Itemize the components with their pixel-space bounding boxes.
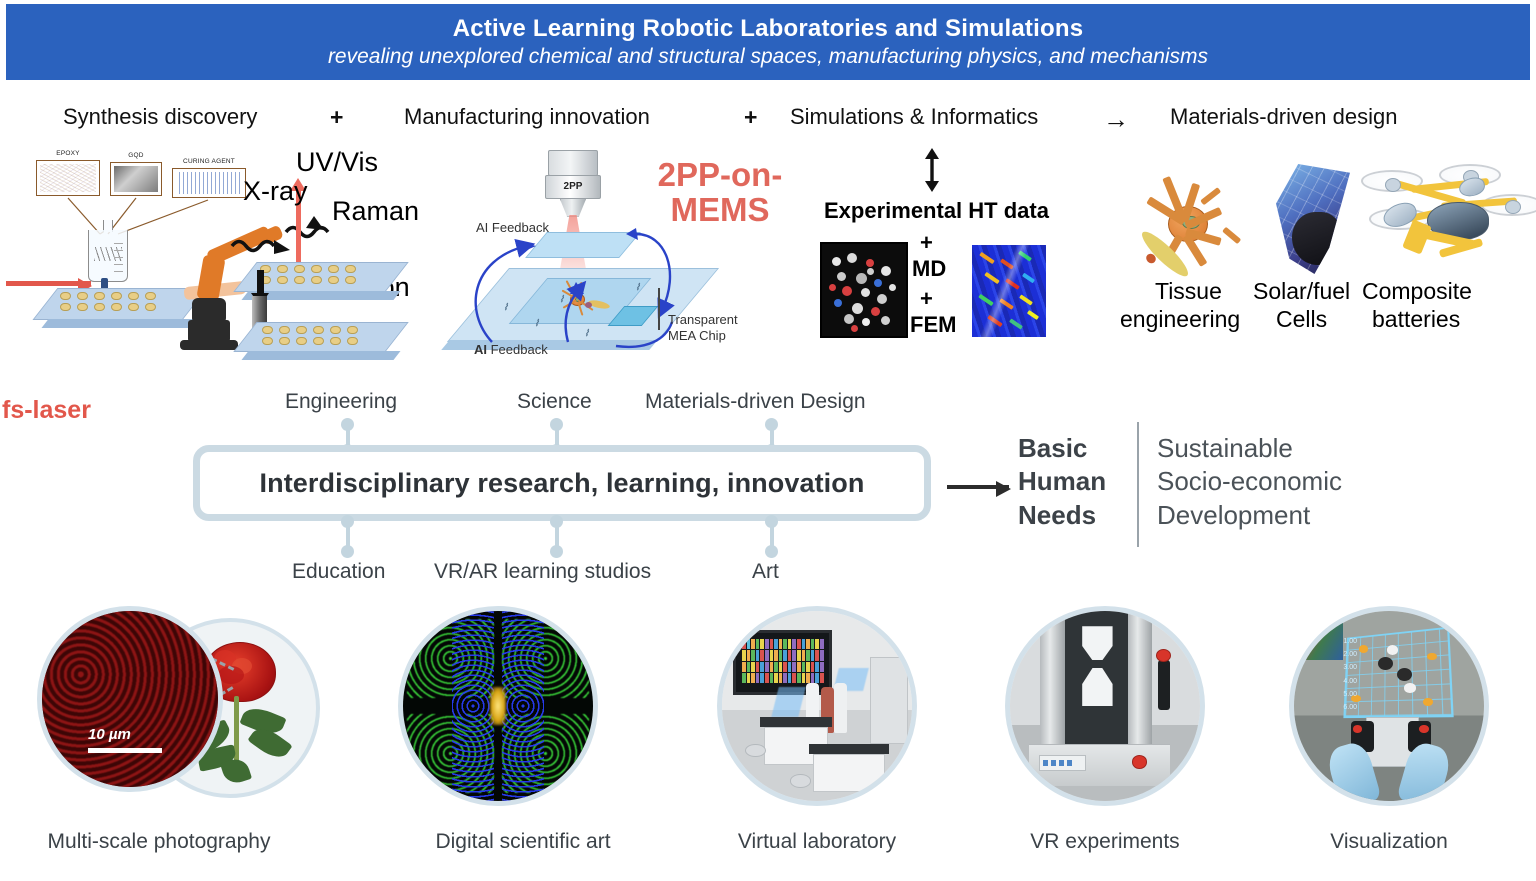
md-simulation-cube <box>820 242 908 338</box>
molecule-atom-light-2 <box>1404 683 1415 693</box>
axis-tick-2: 2.00 <box>1343 651 1357 658</box>
axis-tick-4: 4.00 <box>1343 678 1357 685</box>
molecule-box-gqd-label: GQD <box>111 152 161 159</box>
lab-cabinet <box>870 657 908 744</box>
controller-button-left <box>1353 725 1363 733</box>
gallery-caption-multiscale: Multi-scale photography <box>14 830 304 854</box>
periodic-table-grid <box>742 639 824 684</box>
pillar-label-manufacturing: Manufacturing innovation <box>404 104 650 130</box>
outcome-block: Sustainable Socio-economic Development <box>1157 432 1342 532</box>
pillar-operator-arrow: → <box>1103 104 1129 135</box>
sample-array-top-right <box>260 265 356 284</box>
knob-vrar-bottom <box>550 545 563 558</box>
application-label-tissue-line2: engineering <box>1120 306 1240 333</box>
molecule-box-curing-agent: CURING AGENT <box>172 168 246 198</box>
knob-science-top <box>550 418 563 431</box>
gallery-item-digital-art: Digital scientific art <box>380 598 670 881</box>
node-label-science: Science <box>517 390 592 414</box>
outcome-line-1: Sustainable <box>1157 432 1342 465</box>
probe-label-xray: X-ray <box>243 176 308 207</box>
digital-art-circle <box>398 606 598 806</box>
virtual-lab-image <box>722 611 912 801</box>
lab-benchtop-2 <box>809 744 889 754</box>
node-label-education: Education <box>292 560 385 584</box>
knob-engineering-top <box>341 418 354 431</box>
fem-stress-field-image <box>972 245 1046 337</box>
lab-bench-2 <box>813 754 885 792</box>
application-label-composite-line1: Composite <box>1362 278 1472 305</box>
gallery-caption-visualization: Visualization <box>1244 830 1534 854</box>
vr-controller[interactable] <box>1158 660 1169 709</box>
application-label-solar-line1: Solar/fuel <box>1253 278 1350 305</box>
outcome-arrow-icon <box>947 485 1009 489</box>
ai-feedback-label-bottom: AI Feedback <box>474 342 548 357</box>
gqd-structure-icon <box>114 166 158 192</box>
gallery-item-vr-experiments: VR experiments <box>960 598 1250 881</box>
experimental-ht-data-label: Experimental HT data <box>824 198 1049 224</box>
axis-tick-1: 1.00 <box>1343 638 1357 645</box>
fem-label: FEM <box>910 312 956 338</box>
diffraction-art-image <box>403 611 593 801</box>
application-label-composite-line2: batteries <box>1372 306 1460 333</box>
bidirectional-arrow-icon <box>920 148 944 192</box>
fs-laser-arrow-icon <box>6 281 91 286</box>
chip-callout-line <box>658 288 660 330</box>
pillar-label-simulations: Simulations & Informatics <box>790 104 1038 130</box>
machine-column-right <box>1128 611 1153 748</box>
2pp-objective-icon: 2PP <box>545 150 601 216</box>
mems-top-plate <box>525 232 641 258</box>
page-subtitle: revealing unexplored chemical and struct… <box>328 45 1208 69</box>
node-label-vrar: VR/AR learning studios <box>434 560 651 584</box>
md-label: MD <box>912 256 946 282</box>
node-label-art: Art <box>752 560 779 584</box>
basic-human-needs-block: Basic Human Needs <box>1018 432 1106 532</box>
knob-art-bottom <box>765 545 778 558</box>
page-title: Active Learning Robotic Laboratories and… <box>453 15 1084 43</box>
pillar-operator-2: + <box>744 104 757 131</box>
gallery-row: 10 µm Multi-scale photography Digital sc… <box>0 598 1536 881</box>
gallery-item-visualization: 1.00 2.00 3.00 4.00 5.00 6.00 Visualizat… <box>1244 598 1534 881</box>
flask-graduations <box>114 243 123 272</box>
materials-driven-design-figure: Tissue engineering Solar/fuel Cells Comp… <box>1100 142 1536 380</box>
knob-education-bottom <box>341 545 354 558</box>
molecule-box-curing-agent-label: CURING AGENT <box>173 158 245 165</box>
molecule-box-epoxy: EPOXY <box>36 160 100 196</box>
sample-array-left <box>60 292 156 311</box>
needs-line-1: Basic <box>1018 432 1106 465</box>
printed-neuron-icon <box>548 275 614 321</box>
pillar-operator-1: + <box>330 104 343 131</box>
indentation-arrow-icon <box>257 270 264 294</box>
probe-label-raman: Raman <box>332 196 419 227</box>
slab-side-face <box>41 319 198 328</box>
knob-materials-top <box>765 418 778 431</box>
ai-feedback-label-top: AI Feedback <box>476 220 549 235</box>
visualization-circle: 1.00 2.00 3.00 4.00 5.00 6.00 <box>1289 606 1489 806</box>
axis-tick-5: 5.00 <box>1343 691 1357 698</box>
gallery-caption-virtual-lab: Virtual laboratory <box>672 830 962 854</box>
illustration-band: EPOXY GQD CURING AGENT <box>0 142 1536 380</box>
pillar-heading-row: Synthesis discovery + Manufacturing inno… <box>0 104 1536 138</box>
molecule-box-epoxy-label: EPOXY <box>37 150 99 157</box>
gallery-item-multiscale: 10 µm Multi-scale photography <box>22 598 312 881</box>
sample-array-bottom-right <box>262 326 358 345</box>
objective-label: 2PP <box>545 175 601 199</box>
interdisciplinary-label: Interdisciplinary research, learning, in… <box>260 468 865 499</box>
scale-bar <box>88 748 162 753</box>
pillar-label-materials: Materials-driven design <box>1170 104 1397 130</box>
interdisciplinary-box: Interdisciplinary research, learning, in… <box>193 445 931 521</box>
axis-tick-6: 6.00 <box>1343 704 1357 711</box>
hologram-left <box>771 687 805 717</box>
transparent-mea-chip-label-line1: Transparent <box>668 312 738 327</box>
scale-bar-label: 10 µm <box>88 726 131 743</box>
needs-line-2: Human <box>1018 465 1106 498</box>
robot-base-upper <box>188 320 230 342</box>
simulations-informatics-figure: Experimental HT data + MD + FEM <box>820 142 1100 380</box>
gallery-caption-digital-art: Digital scientific art <box>378 830 668 854</box>
micrograph-texture <box>37 606 223 792</box>
2pp-on-mems-headline: 2PP-on-MEMS <box>640 158 800 228</box>
outcome-line-3: Development <box>1157 499 1342 532</box>
application-label-tissue-line1: Tissue <box>1155 278 1222 305</box>
molecule-atom-orange-1 <box>1359 645 1369 653</box>
molecule-atom-orange-2 <box>1427 653 1437 661</box>
vr-test-machine-image <box>1010 611 1200 801</box>
header-banner: Active Learning Robotic Laboratories and… <box>6 4 1530 80</box>
knob-education-top <box>341 515 354 528</box>
machine-control-panel <box>1039 755 1087 770</box>
neuron-synapse <box>585 302 592 308</box>
machine-column-left <box>1040 611 1065 748</box>
molecule-atom-orange-4 <box>1423 698 1433 706</box>
molecule-atom-dark-1 <box>1378 657 1393 670</box>
reaction-flask-icon <box>88 220 128 282</box>
axis-tick-3: 3.00 <box>1343 664 1357 671</box>
application-label-solar-line2: Cells <box>1276 306 1327 333</box>
plus-sign-2: + <box>920 286 933 312</box>
solar-fuel-cell-icon <box>1276 164 1350 274</box>
tissue-engineering-neuron-icon <box>1128 162 1258 292</box>
virtual-lab-circle <box>717 606 917 806</box>
lab-stool-2 <box>790 774 811 787</box>
plus-sign-1: + <box>920 230 933 256</box>
transparent-mea-chip-label-line2: MEA Chip <box>668 328 726 343</box>
wall-poster <box>1302 622 1344 660</box>
gallery-caption-vr-experiments: VR experiments <box>960 830 1250 854</box>
robot-base-lower <box>180 340 238 350</box>
composite-batteries-drone-icon <box>1355 160 1536 278</box>
lab-benchtop-1 <box>760 717 832 727</box>
controller-button-right <box>1419 725 1429 733</box>
pillar-label-synthesis: Synthesis discovery <box>63 104 257 130</box>
knob-vrar-top <box>550 515 563 528</box>
manufacturing-innovation-figure: 2PP-on-MEMS 2PP ⌇ ⌇ ⌇ ⌇ ⌇ <box>440 142 820 380</box>
probe-label-uvvis: UV/Vis <box>296 147 378 178</box>
vr-visualization-image: 1.00 2.00 3.00 4.00 5.00 6.00 <box>1294 611 1484 801</box>
vr-experiment-circle <box>1005 606 1205 806</box>
synthesis-discovery-figure: EPOXY GQD CURING AGENT <box>0 142 440 380</box>
interdisciplinary-section: Engineering Science Materials-driven Des… <box>0 382 1536 594</box>
epoxy-structure-icon <box>40 164 96 192</box>
curing-agent-structure-icon <box>176 172 242 194</box>
flask-body <box>88 230 128 282</box>
molecule-box-gqd: GQD <box>110 162 162 196</box>
needs-divider <box>1137 422 1139 547</box>
objective-nose <box>560 198 587 216</box>
objective-barrel <box>548 150 597 176</box>
node-label-engineering: Engineering <box>285 390 397 414</box>
slab-side-face <box>241 351 400 360</box>
node-label-materials-design: Materials-driven Design <box>645 390 866 414</box>
emergency-stop-button[interactable] <box>1132 755 1147 768</box>
gallery-item-virtual-lab: Virtual laboratory <box>672 598 962 881</box>
molecule-atom-dark-2 <box>1397 668 1412 681</box>
micrograph-circle: 10 µm <box>37 606 223 792</box>
lab-stool-1 <box>745 744 766 757</box>
needs-line-3: Needs <box>1018 499 1106 532</box>
knob-art-top <box>765 515 778 528</box>
molecule-atom-light-1 <box>1387 645 1398 655</box>
lab-person-3 <box>834 683 847 732</box>
outcome-line-2: Socio-economic <box>1157 465 1342 498</box>
